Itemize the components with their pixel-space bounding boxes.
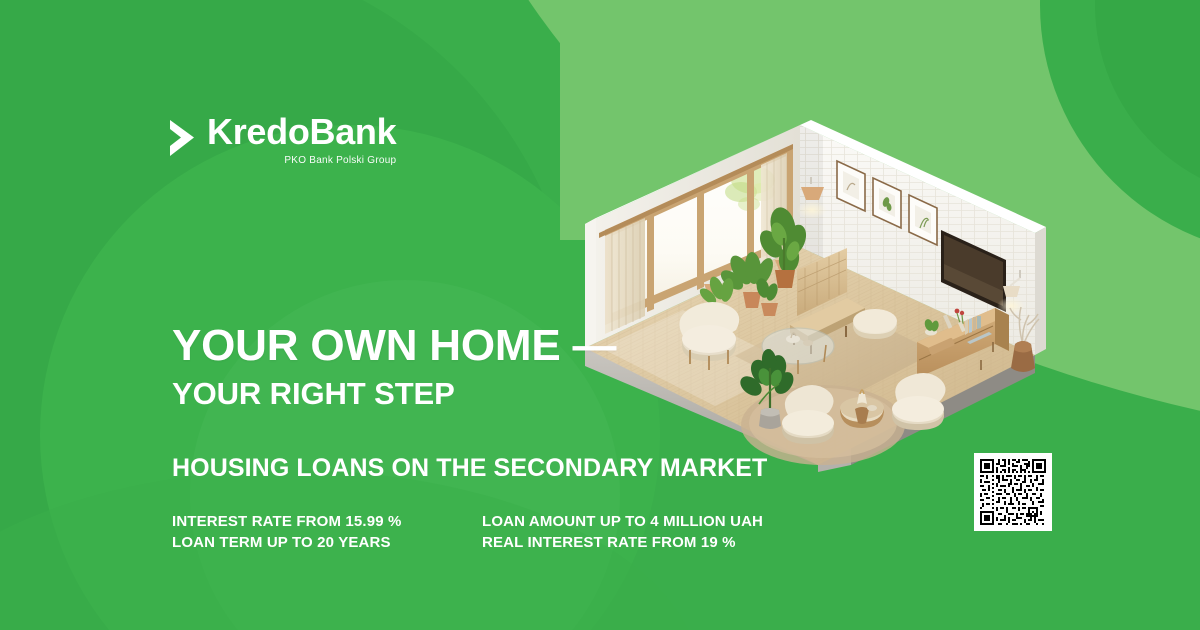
feature-list: INTEREST RATE FROM 15.99 % LOAN TERM UP … xyxy=(172,511,792,553)
chevron-right-icon xyxy=(168,118,198,158)
feature-item: REAL INTEREST RATE FROM 19 % xyxy=(482,532,763,553)
headline-line-2: YOUR RIGHT STEP xyxy=(172,374,792,414)
feature-column-right: LOAN AMOUNT UP TO 4 MILLION UAH REAL INT… xyxy=(482,511,763,553)
qr-code-icon xyxy=(980,459,1046,525)
brand-name: KredoBank xyxy=(207,112,396,152)
copy-block: YOUR OWN HOME — YOUR RIGHT STEP HOUSING … xyxy=(172,322,792,553)
product-subtitle: HOUSING LOANS ON THE SECONDARY MARKET xyxy=(172,453,792,483)
feature-item: LOAN AMOUNT UP TO 4 MILLION UAH xyxy=(482,511,763,532)
feature-item: INTEREST RATE FROM 15.99 % xyxy=(172,511,482,532)
feature-item: LOAN TERM UP TO 20 YEARS xyxy=(172,532,482,553)
brand-logo[interactable]: KredoBank PKO Bank Polski Group xyxy=(168,112,396,167)
brand-tagline: PKO Bank Polski Group xyxy=(207,154,396,167)
headline-line-1: YOUR OWN HOME — xyxy=(172,322,792,369)
feature-column-left: INTEREST RATE FROM 15.99 % LOAN TERM UP … xyxy=(172,511,482,553)
promo-banner: KredoBank PKO Bank Polski Group xyxy=(0,0,1200,630)
qr-code[interactable] xyxy=(974,453,1052,531)
